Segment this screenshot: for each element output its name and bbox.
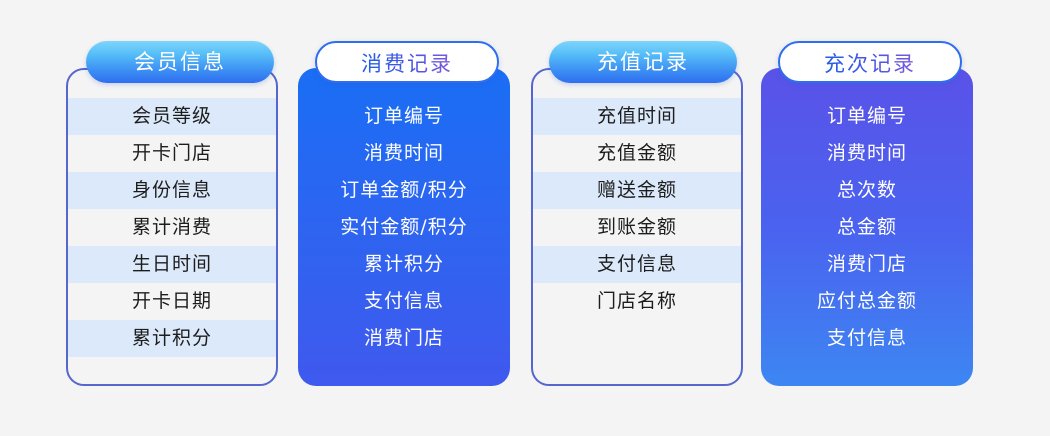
card-recharge-record-title: 充值记录 (597, 50, 689, 74)
list-item[interactable]: 赠送金额 (533, 172, 741, 209)
list-item[interactable]: 门店名称 (533, 283, 741, 320)
list-item[interactable]: 消费时间 (761, 135, 973, 172)
list-item[interactable]: 订单编号 (298, 98, 510, 135)
list-item[interactable]: 订单编号 (761, 98, 973, 135)
list-item[interactable]: 总次数 (761, 172, 973, 209)
card-consumption-record-title: 消费记录 (361, 52, 453, 76)
card-member-info-title: 会员信息 (134, 50, 226, 74)
card-member-info-rows: 会员等级 开卡门店 身份信息 累计消费 生日时间 开卡日期 累计积分 (68, 98, 276, 357)
list-item[interactable]: 消费门店 (298, 320, 510, 357)
list-item[interactable]: 到账金额 (533, 209, 741, 246)
card-member-info[interactable]: 会员等级 开卡门店 身份信息 累计消费 生日时间 开卡日期 累计积分 (66, 68, 278, 386)
list-item[interactable]: 身份信息 (68, 172, 276, 209)
list-item[interactable]: 开卡门店 (68, 135, 276, 172)
card-recharge-record-rows: 充值时间 充值金额 赠送金额 到账金额 支付信息 门店名称 (533, 98, 741, 320)
list-item[interactable]: 消费门店 (761, 246, 973, 283)
list-item[interactable]: 累计积分 (298, 246, 510, 283)
card-recharge-record[interactable]: 充值时间 充值金额 赠送金额 到账金额 支付信息 门店名称 (531, 68, 743, 386)
card-member-info-header[interactable]: 会员信息 (86, 41, 274, 83)
card-consumption-record-rows: 订单编号 消费时间 订单金额/积分 实付金额/积分 累计积分 支付信息 消费门店 (298, 98, 510, 357)
card-times-recharge-record[interactable]: 订单编号 消费时间 总次数 总金额 消费门店 应付总金额 支付信息 (761, 68, 973, 386)
list-item[interactable]: 会员等级 (68, 98, 276, 135)
list-item[interactable]: 累计积分 (68, 320, 276, 357)
list-item[interactable]: 应付总金额 (761, 283, 973, 320)
list-item[interactable]: 充值时间 (533, 98, 741, 135)
list-item[interactable]: 充值金额 (533, 135, 741, 172)
info-cards-board: 会员等级 开卡门店 身份信息 累计消费 生日时间 开卡日期 累计积分 会员信息 … (0, 0, 1050, 436)
list-item[interactable]: 开卡日期 (68, 283, 276, 320)
card-times-recharge-record-rows: 订单编号 消费时间 总次数 总金额 消费门店 应付总金额 支付信息 (761, 98, 973, 357)
list-item[interactable]: 生日时间 (68, 246, 276, 283)
card-recharge-record-header[interactable]: 充值记录 (549, 41, 737, 83)
list-item[interactable]: 消费时间 (298, 135, 510, 172)
list-item[interactable]: 支付信息 (533, 246, 741, 283)
list-item[interactable]: 支付信息 (761, 320, 973, 357)
list-item[interactable]: 实付金额/积分 (298, 209, 510, 246)
card-consumption-record-header[interactable]: 消费记录 (315, 41, 499, 83)
list-item[interactable]: 累计消费 (68, 209, 276, 246)
card-times-recharge-record-header[interactable]: 充次记录 (778, 41, 962, 83)
card-consumption-record[interactable]: 订单编号 消费时间 订单金额/积分 实付金额/积分 累计积分 支付信息 消费门店 (298, 68, 510, 386)
list-item[interactable]: 总金额 (761, 209, 973, 246)
list-item[interactable]: 订单金额/积分 (298, 172, 510, 209)
card-times-recharge-record-title: 充次记录 (824, 52, 916, 76)
list-item[interactable]: 支付信息 (298, 283, 510, 320)
